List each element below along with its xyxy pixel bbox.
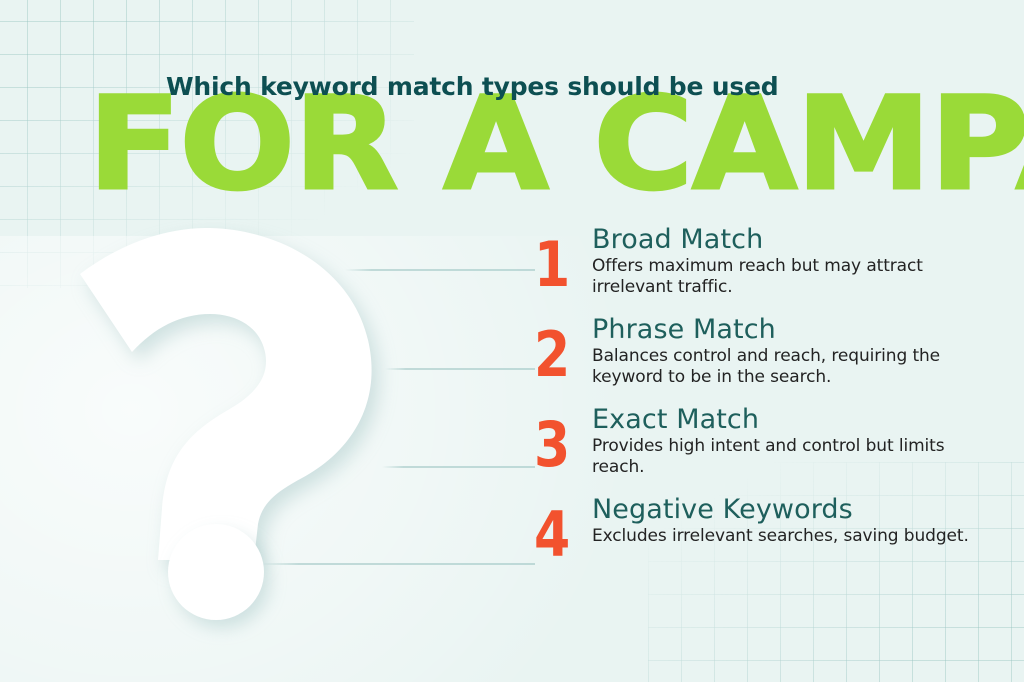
list-item-number: 1 — [534, 234, 583, 296]
list-item-title: Broad Match — [592, 224, 1004, 255]
list-item-body: Exact Match Provides high intent and con… — [592, 404, 1004, 478]
list-item-body: Phrase Match Balances control and reach,… — [592, 314, 1004, 388]
list-item: 1 Broad Match Offers maximum reach but m… — [534, 224, 1004, 298]
list-item-title: Phrase Match — [592, 314, 1004, 345]
list-item-body: Broad Match Offers maximum reach but may… — [592, 224, 1004, 298]
list-item-title: Negative Keywords — [592, 494, 1004, 525]
list-item-number: 3 — [534, 414, 583, 476]
list-item-description: Offers maximum reach but may attract irr… — [592, 256, 972, 298]
list-item-body: Negative Keywords Excludes irrelevant se… — [592, 494, 1004, 547]
list-item-description: Excludes irrelevant searches, saving bud… — [592, 526, 972, 547]
infographic-canvas: FOR A CAMPAIGN? Which keyword match type… — [0, 0, 1024, 682]
list-item: 3 Exact Match Provides high intent and c… — [534, 404, 1004, 478]
list-item: 2 Phrase Match Balances control and reac… — [534, 314, 1004, 388]
connector-line-3 — [382, 466, 535, 468]
list-item-description: Provides high intent and control but lim… — [592, 436, 972, 478]
headline-primary: FOR A CAMPAIGN? — [88, 86, 1024, 204]
headline-secondary: Which keyword match types should be used — [166, 72, 778, 101]
match-type-list: 1 Broad Match Offers maximum reach but m… — [534, 224, 1004, 582]
list-item-number: 2 — [534, 324, 583, 386]
connector-line-2 — [385, 368, 535, 370]
question-mark-dot-icon — [168, 524, 264, 620]
list-item-number: 4 — [534, 504, 583, 566]
list-item-title: Exact Match — [592, 404, 1004, 435]
list-item-description: Balances control and reach, requiring th… — [592, 346, 972, 388]
list-item: 4 Negative Keywords Excludes irrelevant … — [534, 494, 1004, 566]
page-title-block: FOR A CAMPAIGN? Which keyword match type… — [0, 0, 1024, 215]
